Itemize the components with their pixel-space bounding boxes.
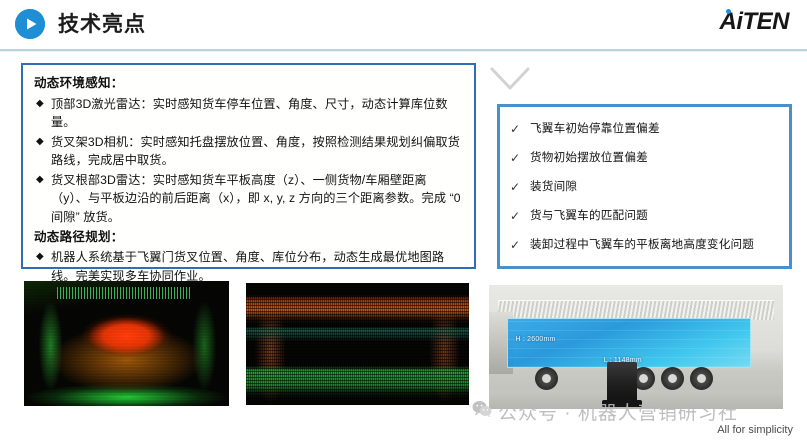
dynamic-perception-panel: 动态环境感知： ◆ 顶部3D激光雷达：实时感知货车停车位置、角度、尺寸，动态计算… xyxy=(21,63,476,269)
diamond-bullet-icon: ◆ xyxy=(34,171,51,190)
wheel xyxy=(535,367,558,390)
point-cloud-scanlines xyxy=(246,283,469,405)
challenges-checklist-panel: ✓ 飞翼车初始停靠位置偏差 ✓ 货物初始摆放位置偏差 ✓ 装货间隙 ✓ 货与飞翼… xyxy=(497,104,792,269)
section-heading-perception: 动态环境感知： xyxy=(34,74,463,93)
section-heading-path-planning: 动态路径规划： xyxy=(34,228,463,247)
check-icon: ✓ xyxy=(510,150,530,167)
checklist-item: ✓ 货与飞翼车的匹配问题 xyxy=(510,208,781,225)
checklist-item-label: 装货间隙 xyxy=(530,179,781,195)
page-title: 技术亮点 xyxy=(58,14,146,35)
diamond-bullet-icon: ◆ xyxy=(34,95,51,114)
agv-forklift-robot xyxy=(607,362,637,404)
trailer-roof xyxy=(498,300,774,320)
checklist-item-label: 货物初始摆放位置偏差 xyxy=(530,150,781,166)
check-icon: ✓ xyxy=(510,237,530,254)
slide-header: 技术亮点 AiTEN xyxy=(0,0,807,48)
wheel xyxy=(690,367,713,390)
check-icon: ✓ xyxy=(510,179,530,196)
play-circle-icon xyxy=(15,9,45,39)
chevron-down-icon xyxy=(489,64,531,94)
slide-canvas: 技术亮点 AiTEN 动态环境感知： ◆ 顶部3D激光雷达：实时感知货车停车位置… xyxy=(0,0,807,442)
bullet-text: 机器人系统基于飞翼门货叉位置、角度、库位分布，动态生成最优地图路线。完美实现多车… xyxy=(51,248,463,285)
checklist-item: ✓ 装货间隙 xyxy=(510,179,781,196)
checklist-item: ✓ 货物初始摆放位置偏差 xyxy=(510,150,781,167)
bullet-item: ◆ 货叉架3D相机：实时感知托盘摆放位置、角度，按照检测结果规划纠偏取货路线，完… xyxy=(34,133,463,170)
brand-logo: AiTEN xyxy=(720,10,790,34)
bullet-item: ◆ 顶部3D激光雷达：实时感知货车停车位置、角度、尺寸，动态计算库位数量。 xyxy=(34,95,463,132)
checklist-item-label: 飞翼车初始停靠位置偏差 xyxy=(530,121,781,137)
bullet-item: ◆ 货叉根部3D雷达：实时感知货车平板高度（z）、一侧货物/车厢壁距离（y）、与… xyxy=(34,171,463,227)
diamond-bullet-icon: ◆ xyxy=(34,133,51,152)
dimension-length-label: L : 1148mm xyxy=(604,357,642,364)
diamond-bullet-icon: ◆ xyxy=(34,248,51,267)
checklist-item: ✓ 装卸过程中飞翼车的平板离地高度变化问题 xyxy=(510,237,781,254)
checklist-item-label: 货与飞翼车的匹配问题 xyxy=(530,208,781,224)
bullet-item: ◆ 机器人系统基于飞翼门货叉位置、角度、库位分布，动态生成最优地图路线。完美实现… xyxy=(34,248,463,285)
trailer-ar-measurement-photo: H : 2600mm L : 1148mm xyxy=(489,285,783,409)
check-icon: ✓ xyxy=(510,208,530,225)
checklist-item: ✓ 飞翼车初始停靠位置偏差 xyxy=(510,121,781,138)
footer-tagline: All for simplicity xyxy=(717,424,793,436)
wheel xyxy=(661,367,684,390)
checklist-item-label: 装卸过程中飞翼车的平板离地高度变化问题 xyxy=(530,237,781,253)
bullet-text: 货叉架3D相机：实时感知托盘摆放位置、角度，按照检测结果规划纠偏取货路线，完成居… xyxy=(51,133,463,170)
brand-logo-dot xyxy=(726,9,731,14)
bullet-text: 货叉根部3D雷达：实时感知货车平板高度（z）、一侧货物/车厢壁距离（y）、与平板… xyxy=(51,171,463,227)
header-divider-secondary xyxy=(0,51,807,52)
point-cloud-scanlines xyxy=(24,281,229,406)
bullet-text: 顶部3D激光雷达：实时感知货车停车位置、角度、尺寸，动态计算库位数量。 xyxy=(51,95,463,132)
check-icon: ✓ xyxy=(510,121,530,138)
lidar-point-cloud-trailer-section xyxy=(246,283,469,405)
lidar-point-cloud-top-view xyxy=(24,281,229,406)
dimension-height-label: H : 2600mm xyxy=(515,336,555,343)
